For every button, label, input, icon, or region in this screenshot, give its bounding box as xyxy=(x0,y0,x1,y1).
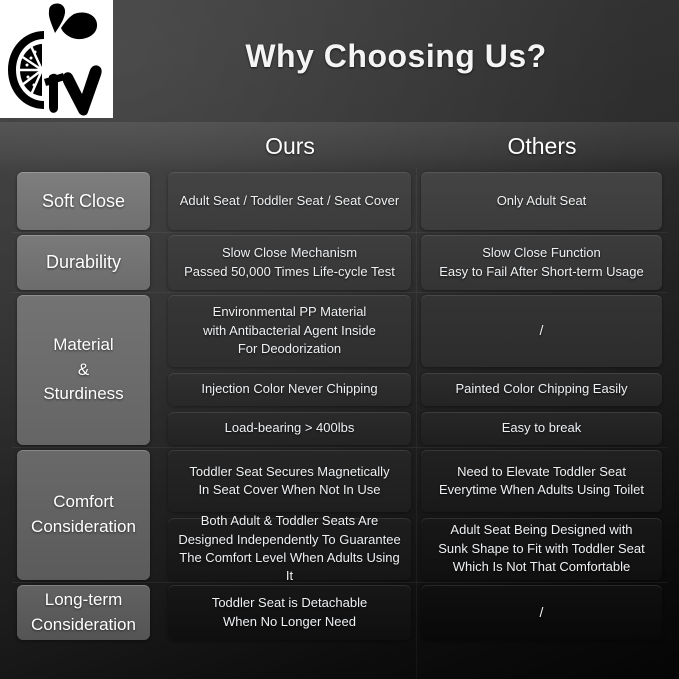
brand-logo xyxy=(0,0,113,118)
row-label: Long-term Consideration xyxy=(17,585,150,640)
cell-others: Adult Seat Being Designed with Sunk Shap… xyxy=(421,518,662,580)
column-header-others: Others xyxy=(420,122,664,170)
row-label: Soft Close xyxy=(17,172,150,230)
row-label: Durability xyxy=(17,235,150,290)
column-header-ours: Ours xyxy=(166,122,414,170)
cell-ours: Toddler Seat is Detachable When No Longe… xyxy=(168,585,411,640)
cell-others: Painted Color Chipping Easily xyxy=(421,373,662,406)
cell-others: / xyxy=(421,585,662,640)
cell-ours: Both Adult & Toddler Seats Are Designed … xyxy=(168,518,411,580)
cell-ours: Injection Color Never Chipping xyxy=(168,373,411,406)
comparison-table: Soft CloseAdult Seat / Toddler Seat / Se… xyxy=(0,168,679,679)
cell-ours: Toddler Seat Secures Magnetically In Sea… xyxy=(168,450,411,512)
row-label: Comfort Consideration xyxy=(17,450,150,580)
cell-others: Easy to break xyxy=(421,412,662,445)
cell-ours: Load-bearing > 400lbs xyxy=(168,412,411,445)
row-separator xyxy=(12,232,667,233)
cell-others: Need to Elevate Toddler Seat Everytime W… xyxy=(421,450,662,512)
column-header-row: Ours Others xyxy=(0,122,679,170)
cell-others: / xyxy=(421,295,662,367)
cell-ours: Slow Close Mechanism Passed 50,000 Times… xyxy=(168,235,411,290)
header: Why Choosing Us? xyxy=(0,0,679,122)
comparison-infographic: Why Choosing Us? Ours Others Soft CloseA… xyxy=(0,0,679,679)
row-separator xyxy=(12,582,667,583)
cell-ours: Adult Seat / Toddler Seat / Seat Cover xyxy=(168,172,411,230)
cell-ours: Environmental PP Material with Antibacte… xyxy=(168,295,411,367)
row-label: Material & Sturdiness xyxy=(17,295,150,445)
page-title: Why Choosing Us? xyxy=(113,0,679,118)
row-separator xyxy=(12,447,667,448)
cell-others: Slow Close Function Easy to Fail After S… xyxy=(421,235,662,290)
lemon-splash-im-icon xyxy=(0,0,113,118)
column-gutter xyxy=(416,168,417,679)
row-separator xyxy=(12,292,667,293)
cell-others: Only Adult Seat xyxy=(421,172,662,230)
